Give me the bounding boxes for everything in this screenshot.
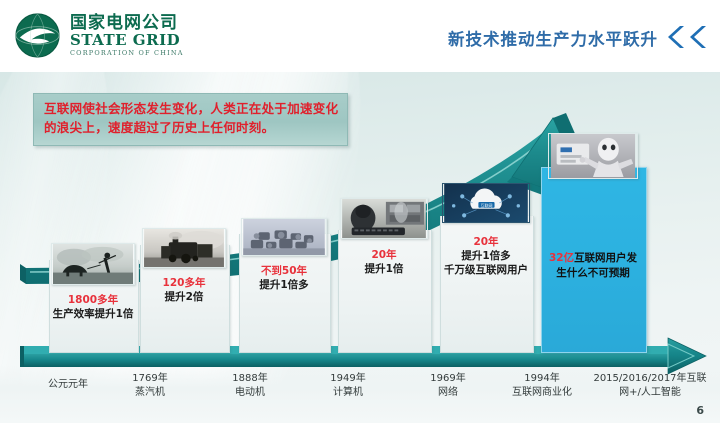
axis-label-line2: 电动机 [210,386,290,400]
column-desc: 提升2倍 [143,290,225,304]
column-year: 20年 [341,248,427,262]
column-text: 20年 提升1倍多 千万级互联网用户 [443,235,529,278]
final-panel-text: 32亿互联网用户发生什么不可预期 [547,251,639,281]
page-number: 6 [696,404,704,417]
chevron-left-icon-2 [686,26,706,48]
robot-ai-photo [548,133,638,179]
page-title: 新技术推动生产力水平跃升 [448,26,658,50]
logo-english-name: STATE GRID [70,33,184,48]
axis-label-line1: 公元元年 [22,378,114,392]
logo-chinese-name: 国家电网公司 [70,15,184,32]
steam-locomotive-photo [142,228,226,268]
header-chevrons [664,26,706,48]
timeline-column-4[interactable]: 20年 提升1倍 [338,198,430,353]
axis-label-line1: 1969年 [408,372,488,386]
axis-label-line2: 网+/人工智能 [586,386,714,400]
column-year: 不到50年 [242,264,326,278]
axis-label-line1: 2015/2016/2017年互联 [586,372,714,386]
axis-label-7: 2015/2016/2017年互联 网+/人工智能 [586,372,714,399]
column-text: 120多年 提升2倍 [143,276,225,304]
axis-label-line2: 蒸汽机 [110,386,190,400]
timeline-column-3[interactable]: 不到50年 提升1倍多 [239,218,329,353]
svg-text:互联网: 互联网 [481,203,493,208]
axis-label-line2: 网络 [408,386,488,400]
slide-header: 国家电网公司 STATE GRID CORPORATION OF CHINA 新… [0,0,720,72]
state-grid-globe-icon [14,12,61,59]
column-desc: 提升1倍多 千万级互联网用户 [443,249,529,277]
early-computer-photo [340,198,428,239]
final-panel-highlight: 32亿 [549,252,574,264]
axis-label-3: 1888年 电动机 [210,372,290,399]
axis-label-line2: 计算机 [308,386,388,400]
axis-label-line1: 1888年 [210,372,290,386]
timeline-column-5[interactable]: 互联网 20年 提升1倍多 千万级互联网用户 [440,183,532,353]
internet-cloud-photo: 互联网 [442,183,530,223]
logo-text-block: 国家电网公司 STATE GRID CORPORATION OF CHINA [70,15,184,57]
slide-root: 1800多年 生产效率提升1倍 [0,0,720,423]
logo-subtitle: CORPORATION OF CHINA [70,50,184,57]
chevron-left-icon-1 [664,26,684,48]
column-desc: 提升1倍 [341,262,427,276]
axis-label-line1: 1949年 [308,372,388,386]
timeline-column-6[interactable]: 32亿互联网用户发生什么不可预期 [541,133,645,353]
axis-label-line2: 互联网商业化 [488,386,596,400]
axis-label-4: 1949年 计算机 [308,372,388,399]
axis-label-line1: 1769年 [110,372,190,386]
column-year: 1800多年 [52,293,134,307]
column-text: 不到50年 提升1倍多 [242,264,326,292]
state-grid-logo: 国家电网公司 STATE GRID CORPORATION OF CHINA [14,12,184,59]
column-desc: 生产效率提升1倍 [52,307,134,321]
column-year: 120多年 [143,276,225,290]
timeline-column-1[interactable]: 1800多年 生产效率提升1倍 [49,243,137,353]
axis-label-line1: 1994年 [488,372,596,386]
axis-label-2: 1769年 蒸汽机 [110,372,190,399]
electric-motors-photo [241,218,327,256]
callout-box: 互联网使社会形态发生变化，人类正在处于加速变化的浪尖上，速度超过了历史上任何时刻… [33,93,348,146]
timeline-column-2[interactable]: 120多年 提升2倍 [140,228,228,353]
column-text: 20年 提升1倍 [341,248,427,276]
axis-label-1: 公元元年 [22,378,114,392]
column-desc: 提升1倍多 [242,278,326,292]
axis-label-6: 1994年 互联网商业化 [488,372,596,399]
column-year: 20年 [443,235,529,249]
axis-label-5: 1969年 网络 [408,372,488,399]
column-text: 1800多年 生产效率提升1倍 [52,293,134,321]
ox-plowing-photo [51,243,135,285]
